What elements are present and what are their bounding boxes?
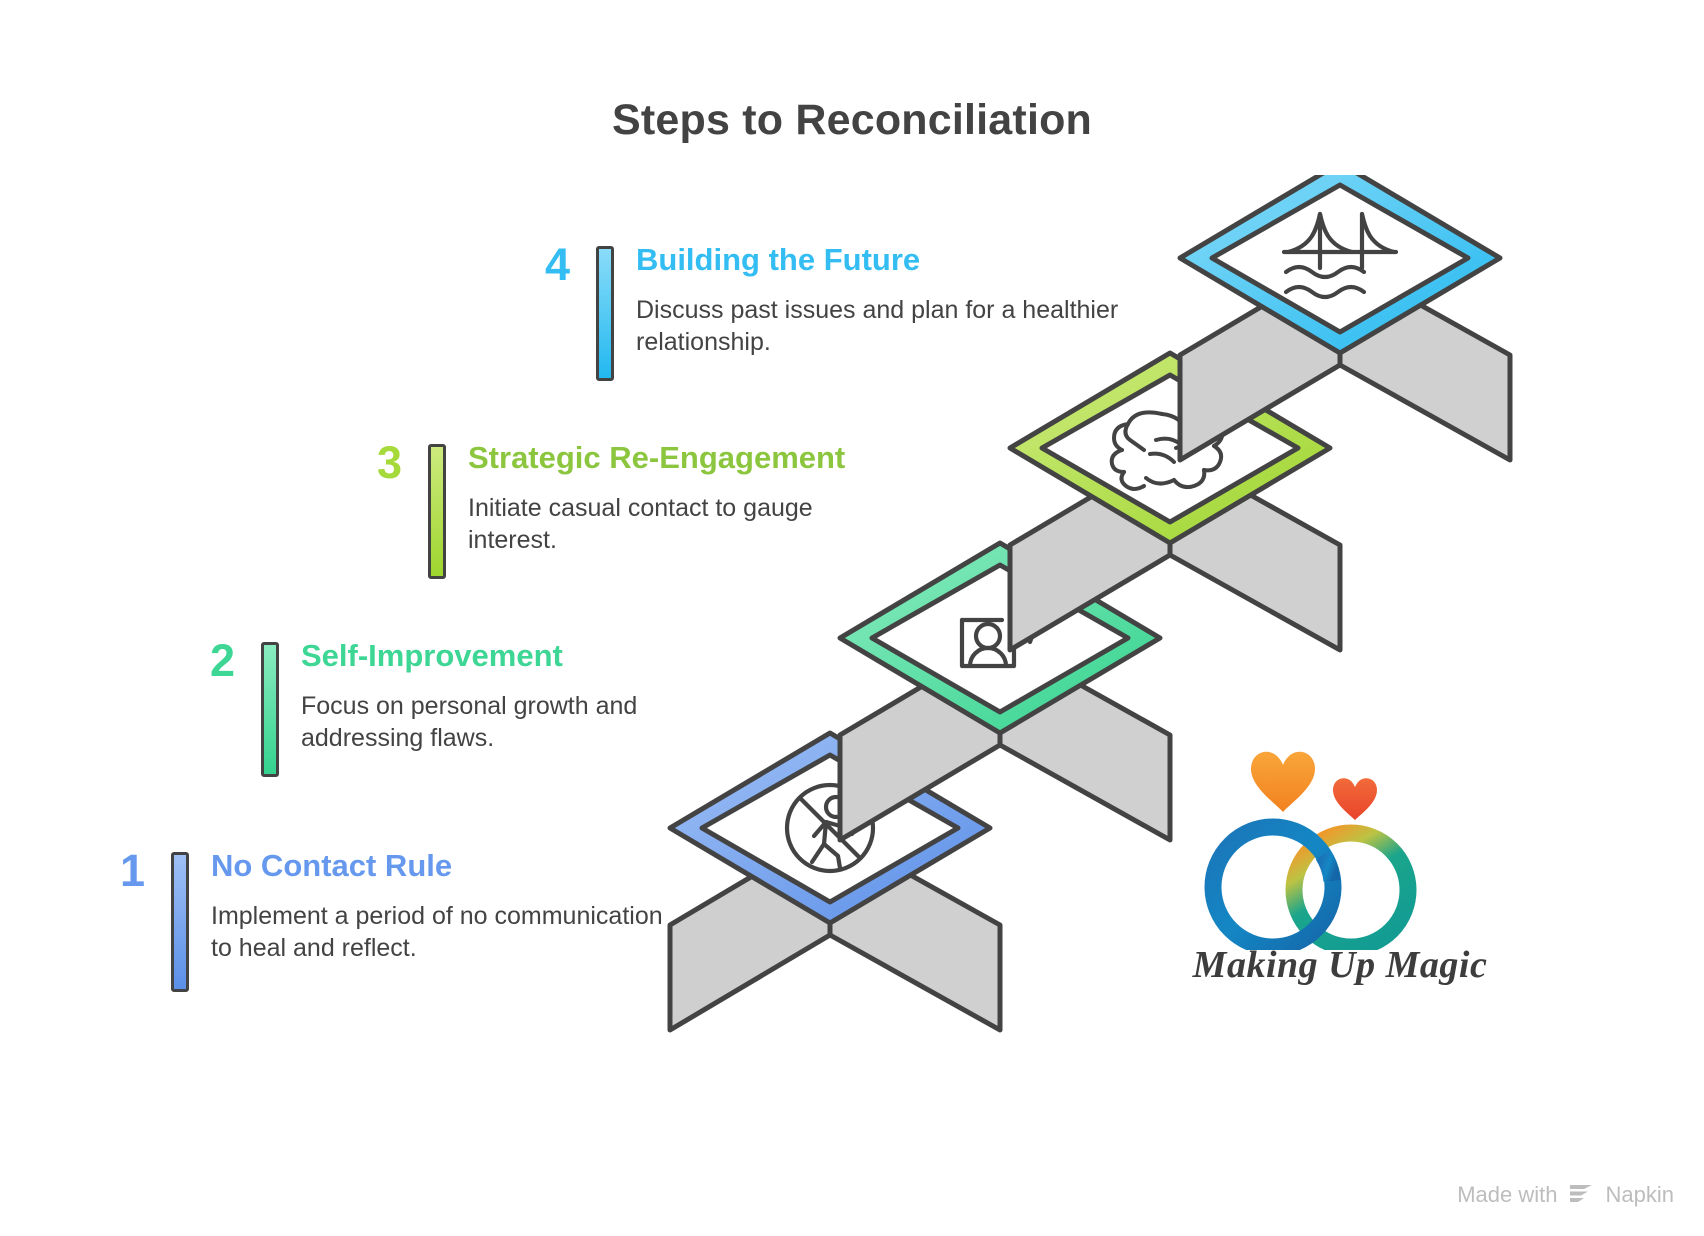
- step-block-2[interactable]: 2 Self-Improvement Focus on personal gro…: [165, 638, 825, 777]
- step-heading-2: Self-Improvement: [301, 638, 825, 674]
- napkin-label: Napkin: [1606, 1182, 1674, 1208]
- step-description-3: Initiate casual contact to gauge interes…: [468, 492, 868, 557]
- step-accent-bar-1: [171, 852, 189, 992]
- infographic-canvas: Steps to Reconciliation: [0, 0, 1704, 1236]
- made-with-label: Made with: [1457, 1182, 1557, 1208]
- step-accent-bar-2: [261, 642, 279, 777]
- brand-name: Making Up Magic: [1155, 943, 1525, 987]
- step-number-4: 4: [500, 242, 570, 287]
- interlocking-rings-hearts-icon: [1155, 735, 1525, 950]
- step-description-2: Focus on personal growth and addressing …: [301, 690, 686, 755]
- stair-step-1: [670, 733, 1000, 1030]
- step-description-4: Discuss past issues and plan for a healt…: [636, 294, 1160, 359]
- step-number-2: 2: [165, 638, 235, 683]
- step-block-3[interactable]: 3 Strategic Re-Engagement Initiate casua…: [332, 440, 1012, 579]
- step-block-4[interactable]: 4 Building the Future Discuss past issue…: [500, 242, 1160, 381]
- page-title: Steps to Reconciliation: [0, 96, 1704, 145]
- napkin-logo-icon: [1568, 1183, 1596, 1207]
- stair-step-4: [1180, 175, 1510, 460]
- step-heading-3: Strategic Re-Engagement: [468, 440, 1012, 476]
- step-number-3: 3: [332, 440, 402, 485]
- made-with-napkin[interactable]: Made with Napkin: [1457, 1182, 1674, 1208]
- step-description-1: Implement a period of no communication t…: [211, 900, 676, 965]
- step-heading-4: Building the Future: [636, 242, 1160, 278]
- step-accent-bar-3: [428, 444, 446, 579]
- stair-step-2: [840, 543, 1170, 840]
- ring-blue: [1213, 827, 1333, 947]
- heart-large-icon: [1251, 752, 1315, 812]
- brand-logo: Making Up Magic: [1155, 735, 1525, 1025]
- step-block-1[interactable]: 1 No Contact Rule Implement a period of …: [0, 848, 680, 992]
- heart-small-icon: [1333, 778, 1377, 820]
- step-number-1: 1: [0, 848, 145, 893]
- stair-step-3: [1010, 353, 1340, 650]
- step-accent-bar-4: [596, 246, 614, 381]
- step-heading-1: No Contact Rule: [211, 848, 680, 884]
